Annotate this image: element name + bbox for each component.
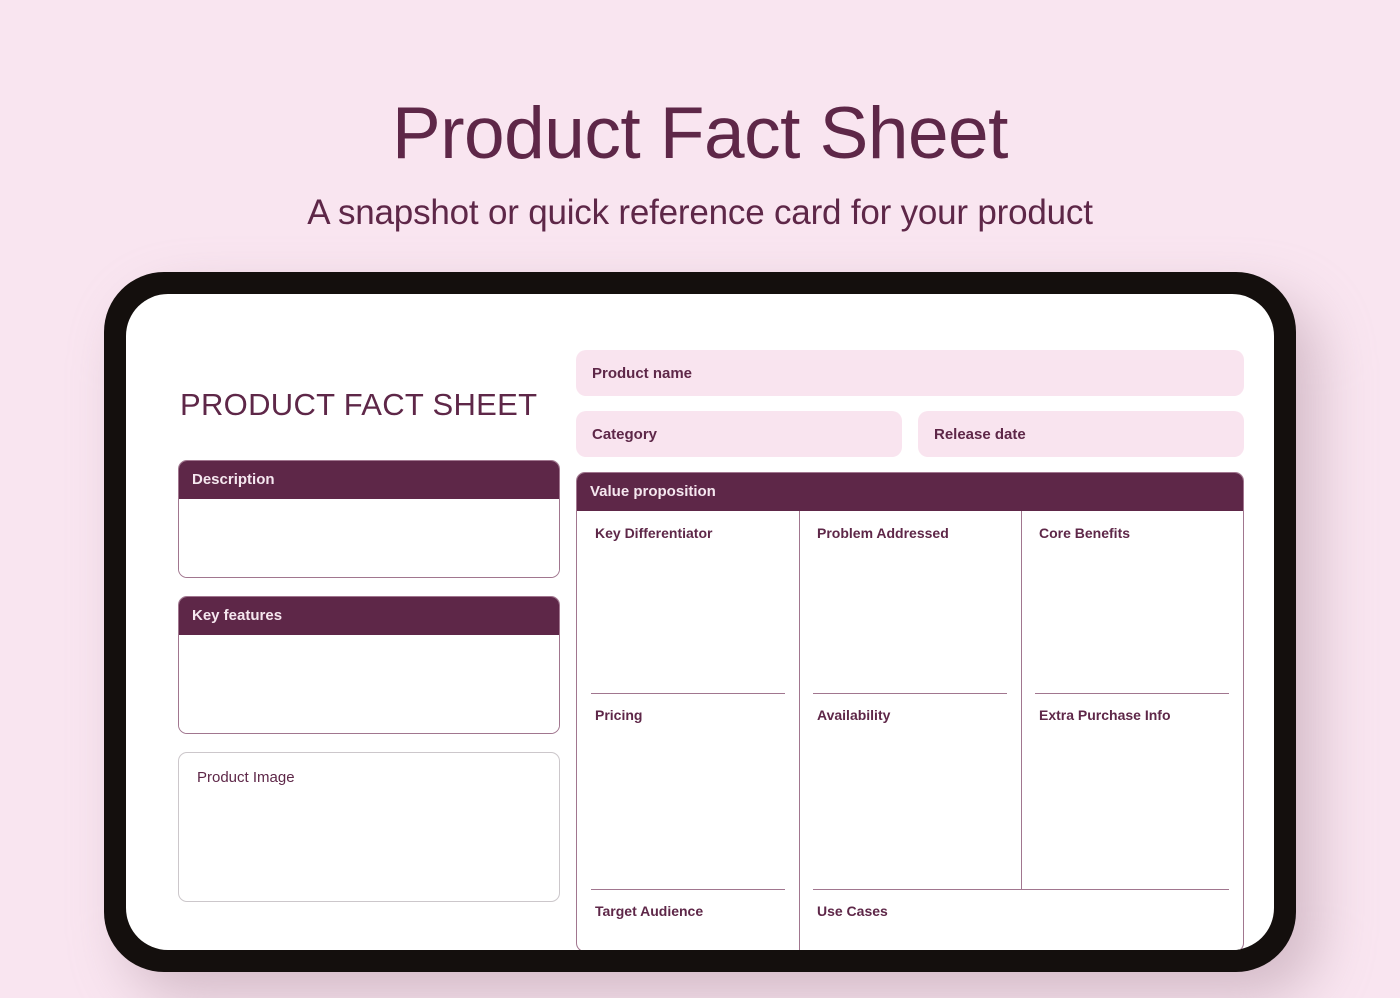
core-benefits-cell[interactable]: Core Benefits <box>1021 511 1243 693</box>
fact-sheet: PRODUCT FACT SHEET Description Key featu… <box>178 350 1244 950</box>
value-proposition-column-3: Core Benefits Extra Purchase Info <box>1021 511 1243 889</box>
category-label: Category <box>592 426 657 443</box>
sheet-title: PRODUCT FACT SHEET <box>178 350 560 460</box>
pricing-label: Pricing <box>595 693 781 723</box>
use-cases-label: Use Cases <box>817 889 1225 919</box>
category-release-row: Category Release date <box>576 411 1244 472</box>
value-proposition-grid: Key Differentiator Pricing Problem Addre… <box>577 511 1243 889</box>
page-header: Product Fact Sheet A snapshot or quick r… <box>0 0 1400 234</box>
description-input[interactable] <box>179 499 559 577</box>
page-title: Product Fact Sheet <box>0 92 1400 176</box>
availability-cell[interactable]: Availability <box>799 693 1021 875</box>
product-name-label: Product name <box>592 365 692 382</box>
product-image-label: Product Image <box>197 769 541 786</box>
sheet-left-column: PRODUCT FACT SHEET Description Key featu… <box>178 350 560 950</box>
release-date-field[interactable]: Release date <box>918 411 1244 457</box>
use-cases-cell[interactable]: Use Cases <box>799 889 1243 950</box>
description-panel: Description <box>178 460 560 578</box>
value-proposition-column-2: Problem Addressed Availability <box>799 511 1021 889</box>
product-name-field[interactable]: Product name <box>576 350 1244 396</box>
device-screen: PRODUCT FACT SHEET Description Key featu… <box>126 294 1274 950</box>
value-proposition-column-1: Key Differentiator Pricing <box>577 511 799 889</box>
value-proposition-header: Value proposition <box>577 473 1243 511</box>
key-differentiator-cell[interactable]: Key Differentiator <box>577 511 799 693</box>
key-features-panel: Key features <box>178 596 560 734</box>
target-audience-cell[interactable]: Target Audience <box>577 889 799 950</box>
extra-purchase-info-label: Extra Purchase Info <box>1039 693 1225 723</box>
category-field[interactable]: Category <box>576 411 902 457</box>
tablet-device-mockup: PRODUCT FACT SHEET Description Key featu… <box>104 272 1296 972</box>
product-image-panel[interactable]: Product Image <box>178 752 560 902</box>
key-features-panel-header: Key features <box>179 597 559 635</box>
value-proposition-panel: Value proposition Key Differentiator Pri… <box>576 472 1244 950</box>
key-differentiator-label: Key Differentiator <box>595 511 781 541</box>
availability-label: Availability <box>817 693 1003 723</box>
description-panel-header: Description <box>179 461 559 499</box>
problem-addressed-label: Problem Addressed <box>817 511 1003 541</box>
key-features-input[interactable] <box>179 635 559 733</box>
extra-purchase-info-cell[interactable]: Extra Purchase Info <box>1021 693 1243 875</box>
value-proposition-bottom-row: Target Audience Use Cases <box>577 889 1243 950</box>
page-subtitle: A snapshot or quick reference card for y… <box>0 192 1400 234</box>
target-audience-label: Target Audience <box>595 889 781 919</box>
problem-addressed-cell[interactable]: Problem Addressed <box>799 511 1021 693</box>
sheet-right-column: Product name Category Release date Value… <box>576 350 1244 950</box>
pricing-cell[interactable]: Pricing <box>577 693 799 875</box>
device-bezel: PRODUCT FACT SHEET Description Key featu… <box>104 272 1296 972</box>
release-date-label: Release date <box>934 426 1026 443</box>
core-benefits-label: Core Benefits <box>1039 511 1225 541</box>
